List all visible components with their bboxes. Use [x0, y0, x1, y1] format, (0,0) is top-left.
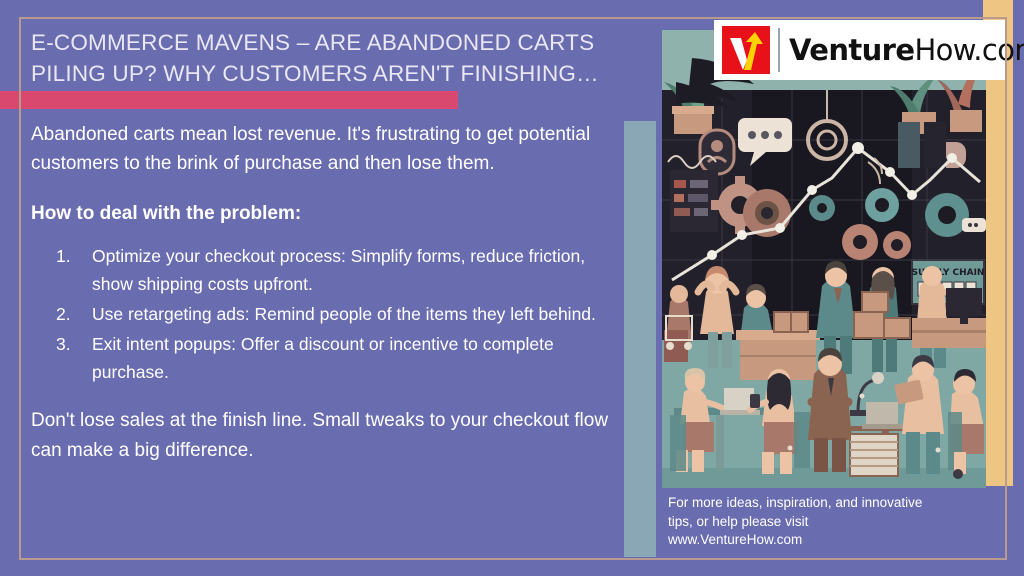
- logo-divider: [778, 28, 780, 72]
- laptop-icon: [862, 402, 904, 429]
- list-item: Optimize your checkout process: Simplify…: [69, 242, 611, 298]
- list-item: Use retargeting ads: Remind people of th…: [69, 300, 611, 328]
- logo-brand-bold: Venture: [789, 33, 914, 67]
- illustration-svg: SUPPLY CHAIN: [662, 30, 986, 488]
- footer-caption: For more ideas, inspiration, and innovat…: [668, 494, 998, 550]
- closing-paragraph: Don't lose sales at the finish line. Sma…: [31, 406, 611, 466]
- gear-icon: [842, 224, 878, 260]
- package-box: [774, 312, 808, 332]
- caption-line-1: For more ideas, inspiration, and innovat…: [668, 494, 998, 513]
- office-illustration: SUPPLY CHAIN: [662, 30, 986, 488]
- caption-line-2: tips, or help please visit: [668, 513, 998, 532]
- list-item: Exit intent popups: Offer a discount or …: [69, 330, 611, 386]
- brand-logo: VentureHow.com: [714, 20, 1005, 80]
- phone-icon: [750, 394, 760, 408]
- checkmark-arrow-icon: [722, 26, 770, 74]
- caption-line-3: www.VentureHow.com: [668, 531, 998, 550]
- subheading: How to deal with the problem:: [31, 200, 611, 228]
- slide-canvas: E-COMMERCE MAVENS – ARE ABANDONED CARTS …: [0, 0, 1024, 576]
- page-title: E-COMMERCE MAVENS – ARE ABANDONED CARTS …: [31, 27, 631, 89]
- venturehow-mark-icon: [722, 26, 770, 74]
- gear-icon: [883, 231, 911, 259]
- gear-icon: [809, 195, 835, 221]
- steps-list: Optimize your checkout process: Simplify…: [31, 242, 611, 386]
- logo-wordmark: VentureHow.com: [789, 33, 1024, 67]
- accent-bar-gray-left: [624, 121, 656, 557]
- user-frown-icon: [700, 130, 734, 174]
- gear-icon: [925, 193, 969, 237]
- title-underline-bar: [0, 91, 458, 109]
- logo-brand-light: How.com: [914, 33, 1024, 67]
- dots-badge-icon: [962, 218, 986, 232]
- intro-paragraph: Abandoned carts mean lost revenue. It's …: [31, 120, 611, 178]
- body-content: Abandoned carts mean lost revenue. It's …: [31, 120, 611, 466]
- file-cabinet: [850, 434, 898, 476]
- gear-icon: [865, 188, 899, 222]
